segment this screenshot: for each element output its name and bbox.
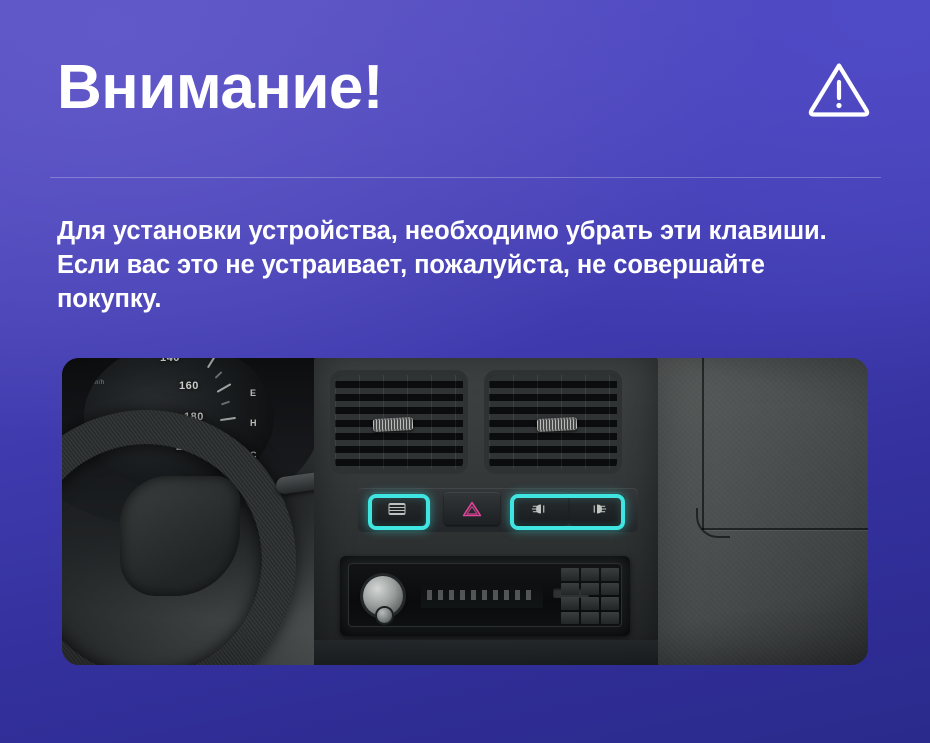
stereo-button-grid[interactable]	[561, 568, 619, 624]
rear-defogger-button[interactable]	[370, 492, 424, 525]
stereo-preset-button[interactable]	[561, 597, 579, 610]
speed-mark-140: 140	[160, 358, 180, 364]
lower-console	[314, 640, 658, 665]
stereo-preset-button[interactable]	[581, 597, 599, 610]
stereo-preset-button[interactable]	[601, 583, 619, 596]
stereo-preset-button[interactable]	[561, 568, 579, 581]
banner-header: Внимание!	[57, 52, 870, 132]
stereo-preset-button[interactable]	[581, 568, 599, 581]
message-line-2: Если вас это не устраивает, пожалуйста, …	[57, 248, 857, 282]
car-dashboard-photo: km/h 140 160 180 200	[62, 358, 868, 665]
dashboard-texture	[658, 358, 868, 665]
stereo-preset-button[interactable]	[601, 612, 619, 625]
front-fog-light-button[interactable]	[514, 492, 568, 525]
fuel-high-label: F	[250, 358, 256, 366]
air-vent-left	[330, 370, 468, 474]
secondary-knob[interactable]	[377, 608, 392, 623]
front-fog-icon	[531, 502, 551, 515]
passenger-dashboard	[658, 358, 868, 665]
temp-high-label: H	[250, 418, 257, 428]
air-vents	[330, 370, 622, 476]
warning-triangle-icon	[808, 60, 870, 118]
warning-banner: Внимание! Для установки устройства, необ…	[0, 0, 930, 743]
photo-backdrop: km/h 140 160 180 200	[62, 358, 868, 665]
air-vent-right	[484, 370, 622, 474]
warning-message: Для установки устройства, необходимо убр…	[57, 214, 857, 316]
stereo-display	[421, 582, 543, 608]
rear-fog-icon	[587, 502, 607, 515]
speed-mark-160: 160	[179, 380, 199, 392]
message-line-1: Для установки устройства, необходимо убр…	[57, 214, 857, 248]
car-stereo-head-unit[interactable]	[348, 563, 622, 627]
fuel-low-label: E	[250, 388, 256, 398]
hazard-lights-button[interactable]	[444, 492, 500, 525]
message-line-3: покупку.	[57, 282, 857, 316]
vent-adjust-wheel	[537, 417, 578, 432]
stereo-preset-button[interactable]	[601, 568, 619, 581]
dashboard-seam-vertical	[702, 358, 704, 530]
stereo-preset-button[interactable]	[581, 612, 599, 625]
radio-bezel	[340, 556, 630, 636]
stereo-preset-button[interactable]	[581, 583, 599, 596]
stereo-display-segments	[427, 590, 535, 600]
vent-adjust-wheel	[373, 417, 414, 432]
defogger-icon	[389, 503, 406, 515]
stereo-preset-button[interactable]	[561, 612, 579, 625]
stereo-preset-button[interactable]	[561, 583, 579, 596]
dashboard-switch-row	[358, 488, 638, 532]
rear-fog-light-button[interactable]	[570, 492, 624, 525]
stereo-preset-button[interactable]	[601, 597, 619, 610]
page-title: Внимание!	[57, 52, 383, 124]
header-divider	[50, 177, 881, 178]
hazard-triangle-icon	[462, 500, 482, 517]
